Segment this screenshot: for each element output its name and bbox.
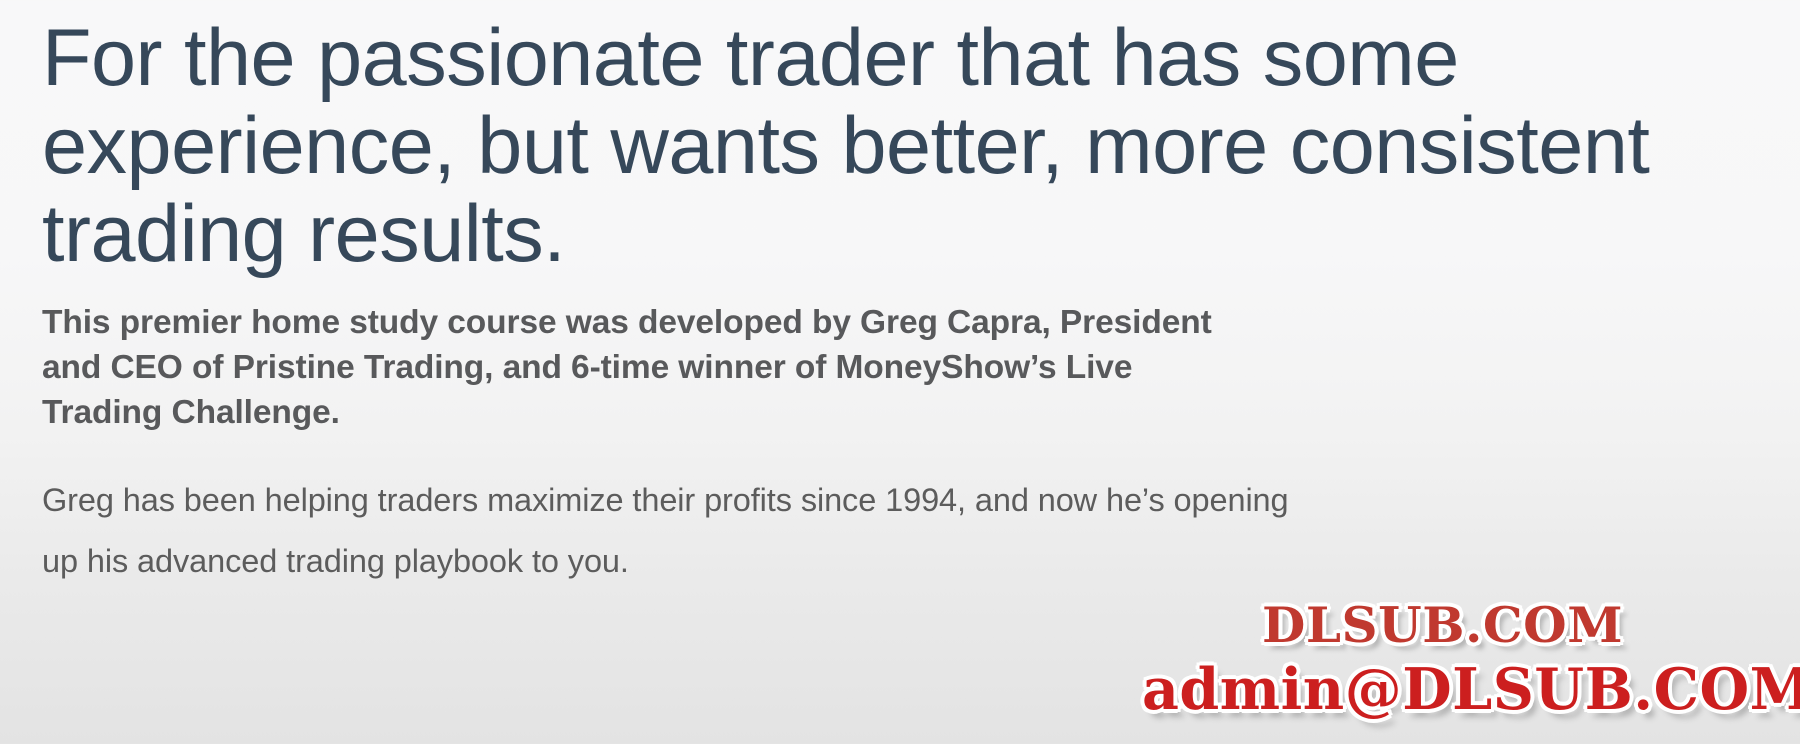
body-line: up his advanced trading playbook to you. bbox=[42, 531, 1742, 592]
promo-content: For the passionate trader that has some … bbox=[42, 14, 1782, 592]
page-title: For the passionate trader that has some … bbox=[42, 14, 1757, 278]
subheading-line: and CEO of Pristine Trading, and 6-time … bbox=[42, 345, 1742, 390]
watermark-contact-email: admin@DLSUB.COM bbox=[1142, 656, 1800, 723]
promo-page: For the passionate trader that has some … bbox=[0, 0, 1800, 744]
promo-body-paragraph: Greg has been helping traders maximize t… bbox=[42, 470, 1742, 592]
promo-subheading: This premier home study course was devel… bbox=[42, 300, 1742, 435]
watermark-site-name: DLSUB.COM bbox=[1262, 596, 1623, 654]
body-line: Greg has been helping traders maximize t… bbox=[42, 470, 1742, 531]
subheading-line: Trading Challenge. bbox=[42, 390, 1742, 435]
subheading-line: This premier home study course was devel… bbox=[42, 300, 1742, 345]
